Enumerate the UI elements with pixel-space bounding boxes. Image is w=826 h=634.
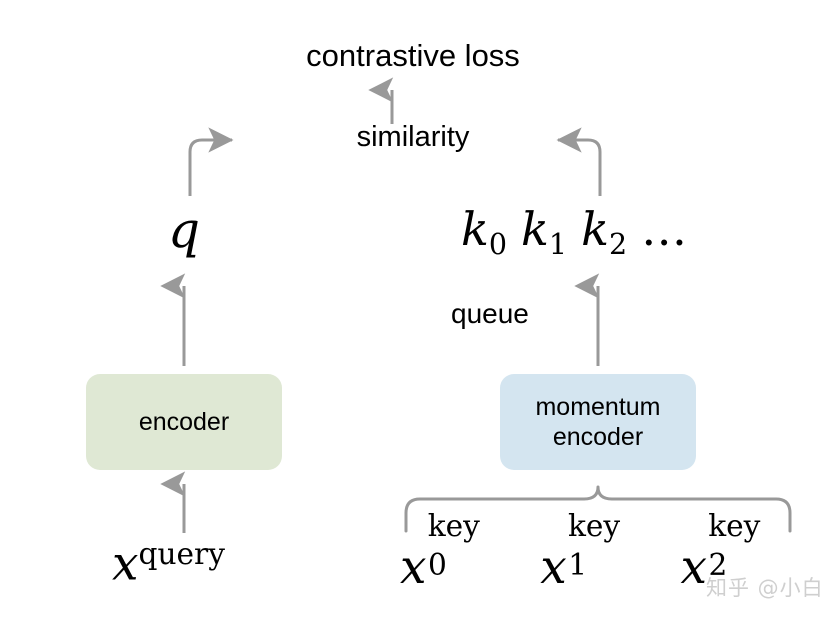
q-letter: q: [168, 201, 200, 259]
moco-architecture-diagram: contrastive loss similarity queue q k0k1…: [0, 0, 826, 634]
x-key-0-superscript: key: [428, 509, 480, 543]
momentum-encoder-label-line1: momentum: [535, 392, 660, 423]
x-query-symbol: xquery: [112, 537, 225, 591]
x-key-2-superscript: key: [708, 509, 760, 543]
encoder-box[interactable]: encoder: [86, 374, 282, 470]
key-vector-0: k0: [461, 202, 507, 256]
momentum-encoder-box[interactable]: momentum encoder: [500, 374, 696, 470]
zhihu-watermark: 知乎 @小白: [706, 572, 824, 602]
similarity-label: similarity: [0, 121, 826, 154]
key-vector-1: k1: [521, 202, 567, 256]
x-key-0-subscript: 0: [428, 548, 447, 582]
x-key-0: xkey0: [400, 540, 532, 595]
key-2-subscript: 2: [609, 228, 627, 261]
query-vector-symbol: q: [168, 202, 200, 260]
key-vector-2: k2: [581, 202, 627, 256]
x-query-superscript: query: [139, 537, 225, 571]
key-0-subscript: 0: [489, 228, 507, 261]
queue-label: queue: [451, 298, 529, 330]
x-letter: x: [112, 536, 139, 591]
encoder-box-label: encoder: [139, 407, 229, 438]
contrastive-loss-label: contrastive loss: [0, 38, 826, 74]
x-key-1-superscript: key: [568, 509, 620, 543]
key-1-subscript: 1: [549, 228, 567, 261]
x-key-1: xkey1: [540, 540, 672, 595]
momentum-encoder-label-line2: encoder: [553, 422, 643, 453]
key-ellipsis: …: [641, 202, 687, 256]
key-vectors-symbols: k0k1k2…: [461, 203, 687, 262]
x-key-1-subscript: 1: [568, 548, 587, 582]
